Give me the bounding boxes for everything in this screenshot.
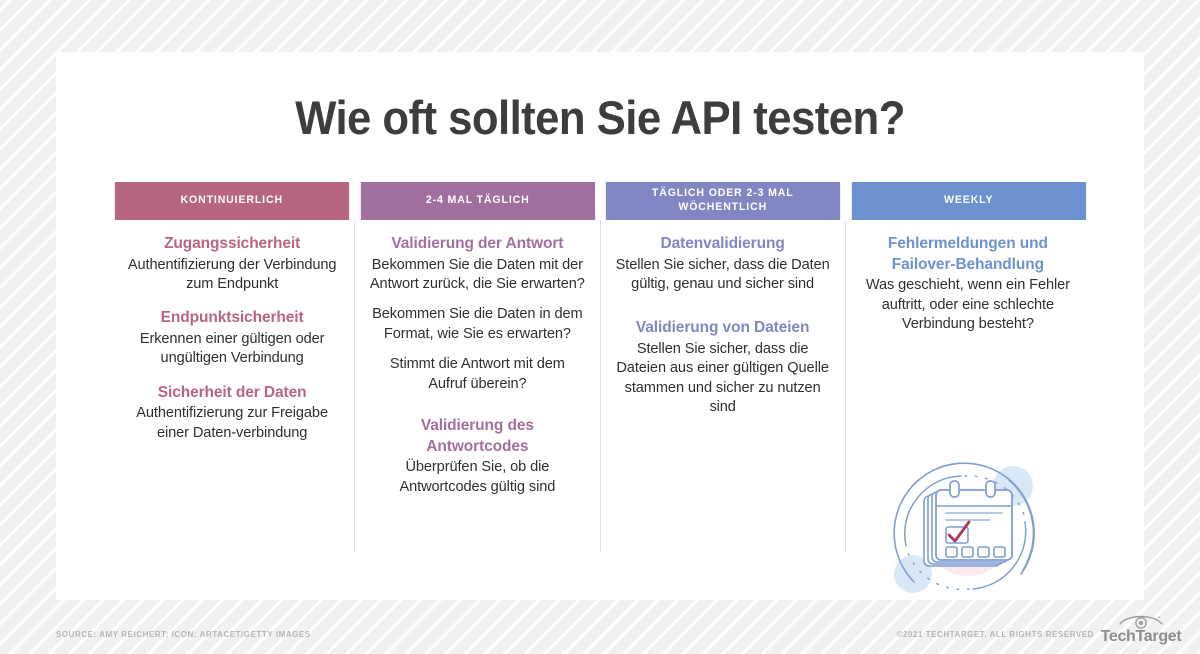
content-block: Validierung des Antwortcodes Überprüfen …: [369, 416, 585, 497]
techtarget-wordmark: TechTarget: [1100, 629, 1182, 644]
block-heading: Fehlermeldungen und Failover-Behandlung: [860, 234, 1076, 275]
column-header-label: TÄGLICH ODER 2-3 MAL WÖCHENTLICH: [612, 187, 834, 215]
column-header-label: 2-4 MAL TÄGLICH: [425, 194, 529, 208]
content-block: Validierung der Antwort Bekommen Sie die…: [369, 234, 585, 394]
content-block: Validierung von Dateien Stellen Sie sich…: [615, 318, 831, 417]
block-heading: Validierung der Antwort: [369, 234, 585, 255]
table-body-row: Zugangssicherheit Authentifizierung der …: [110, 220, 1090, 552]
block-paragraph: Bekommen Sie die Daten in dem Format, wi…: [369, 305, 585, 344]
content-block: Sicherheit der Daten Authentifizierung z…: [124, 383, 340, 443]
block-paragraph: Bekommen Sie die Daten mit der Antwort z…: [369, 256, 585, 295]
copyright-notice: ©2021 TECHTARGET. ALL RIGHTS RESERVED: [896, 630, 1094, 639]
block-paragraph: Authentifizierung der Verbindung zum End…: [124, 256, 340, 295]
block-heading: Endpunktsicherheit: [124, 308, 340, 329]
column-header-weekly: WEEKLY: [851, 182, 1085, 220]
block-heading: Sicherheit der Daten: [124, 383, 340, 404]
content-block: Endpunktsicherheit Erkennen einer gültig…: [124, 308, 340, 368]
source-credit: SOURCE: AMY REICHERT; ICON: ARTACET/GETT…: [56, 630, 311, 639]
block-paragraph: Was geschieht, wenn ein Fehler auftritt,…: [860, 276, 1076, 334]
table-header-row: KONTINUIERLICH 2-4 MAL TÄGLICH TÄGLICH O…: [110, 182, 1090, 220]
column-header-daily-or-weekly: TÄGLICH ODER 2-3 MAL WÖCHENTLICH: [606, 182, 840, 220]
block-heading: Validierung von Dateien: [615, 318, 831, 339]
block-paragraph: Stellen Sie sicher, dass die Daten gülti…: [615, 256, 831, 295]
content-block: Zugangssicherheit Authentifizierung der …: [124, 234, 340, 294]
content-block: Fehlermeldungen und Failover-Behandlung …: [860, 234, 1076, 334]
eye-icon: [1118, 614, 1164, 629]
frequency-table: KONTINUIERLICH 2-4 MAL TÄGLICH TÄGLICH O…: [110, 182, 1090, 552]
block-heading: Zugangssicherheit: [124, 234, 340, 255]
column-body-weekly: Fehlermeldungen und Failover-Behandlung …: [845, 220, 1090, 552]
column-header-2-4-daily: 2-4 MAL TÄGLICH: [360, 182, 594, 220]
block-paragraph: Stimmt die Antwort mit dem Aufruf überei…: [369, 355, 585, 394]
block-paragraph: Überprüfen Sie, ob die Antwortcodes gült…: [369, 458, 585, 497]
content-block: Datenvalidierung Stellen Sie sicher, das…: [615, 234, 831, 294]
content-card: Wie oft sollten Sie API testen? KONTINUI…: [56, 52, 1144, 600]
calendar-check-icon: [873, 448, 1063, 613]
block-heading: Validierung des Antwortcodes: [369, 416, 585, 457]
column-body-2-4-daily: Validierung der Antwort Bekommen Sie die…: [354, 220, 599, 552]
page-title: Wie oft sollten Sie API testen?: [94, 90, 1106, 145]
block-paragraph: Erkennen einer gültigen oder ungültigen …: [124, 330, 340, 369]
column-body-continuous: Zugangssicherheit Authentifizierung der …: [110, 220, 354, 552]
column-header-label: WEEKLY: [944, 194, 993, 208]
infographic-page: Wie oft sollten Sie API testen? KONTINUI…: [0, 0, 1200, 654]
techtarget-logo: TechTarget: [1100, 614, 1182, 646]
block-heading: Datenvalidierung: [615, 234, 831, 255]
column-header-continuous: KONTINUIERLICH: [115, 182, 349, 220]
column-header-label: KONTINUIERLICH: [181, 194, 283, 208]
column-body-daily-or-weekly: Datenvalidierung Stellen Sie sicher, das…: [600, 220, 845, 552]
block-paragraph: Authentifizierung zur Freigabe einer Dat…: [124, 404, 340, 443]
block-paragraph: Stellen Sie sicher, dass die Dateien aus…: [615, 340, 831, 418]
